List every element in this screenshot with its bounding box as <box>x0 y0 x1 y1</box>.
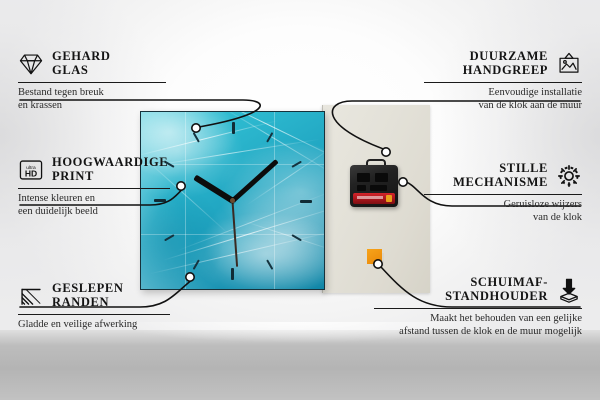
feature-desc-line-2: en krassen <box>18 100 166 113</box>
clock-tick-12 <box>232 122 234 201</box>
feature-geslepen-randen: GESLEPEN RANDEN Gladde en veilige afwerk… <box>18 282 170 332</box>
feature-desc-line-1: Eenvoudige installatie <box>424 87 582 100</box>
feature-hoogwaardige-print: ultra HD HOOGWAARDIGE PRINT Intense kleu… <box>18 156 170 218</box>
gear-icon <box>556 163 582 189</box>
feature-duurzame-handgreep: DUURZAME HANDGREEP Eenvoudige installati… <box>424 50 582 112</box>
feature-desc-line-1: Intense kleuren en <box>18 193 170 206</box>
feature-divider <box>424 194 582 195</box>
feature-title: GEHARD GLAS <box>52 50 110 77</box>
product-photo <box>140 103 432 293</box>
movement-slot-2 <box>375 173 388 182</box>
battery-label-stripe <box>357 196 383 199</box>
feature-desc-line-2: een duidelijk beeld <box>18 206 170 219</box>
feature-title: HOOGWAARDIGE PRINT <box>52 156 168 183</box>
feature-stille-mechanisme: STILLE MECHANISME Geruisloze wijzers van… <box>424 162 582 224</box>
movement-slot-1 <box>357 173 370 182</box>
feature-desc-line-2: van de klok <box>424 212 582 225</box>
ultra-hd-icon-text-bottom: HD <box>25 168 37 178</box>
movement-slot-4 <box>370 185 387 191</box>
feature-gehard-glas: GEHARD GLAS Bestand tegen breuk en krass… <box>18 50 166 112</box>
feature-divider <box>18 314 170 315</box>
beveled-edges-icon <box>18 283 44 309</box>
feature-header: DUURZAME HANDGREEP <box>424 50 582 77</box>
down-arrow-pad-icon <box>556 277 582 303</box>
quartz-movement <box>350 165 398 207</box>
feature-divider <box>424 82 582 83</box>
infographic-stage: GEHARD GLAS Bestand tegen breuk en krass… <box>0 0 600 400</box>
feature-desc-line-2: afstand tussen de klok en de muur mogeli… <box>374 326 582 339</box>
feature-header: STILLE MECHANISME <box>424 162 582 189</box>
feature-desc-line-2: van de klok aan de muur <box>424 100 582 113</box>
feature-desc-line-1: Geruisloze wijzers <box>424 199 582 212</box>
foam-spacer-pad <box>367 249 382 264</box>
feature-desc-line-1: Bestand tegen breuk <box>18 87 166 100</box>
battery-positive-terminal <box>386 195 392 202</box>
movement-battery <box>353 193 395 204</box>
picture-frame-icon <box>556 51 582 77</box>
feature-title: GESLEPEN RANDEN <box>52 282 124 309</box>
clock-tick-3 <box>233 200 312 202</box>
diamond-icon <box>18 51 44 77</box>
feature-desc-line-1: Maakt het behouden van een gelijke <box>374 313 582 326</box>
ultra-hd-icon: ultra HD <box>18 157 44 183</box>
feature-header: ultra HD HOOGWAARDIGE PRINT <box>18 156 170 183</box>
feature-divider <box>18 82 166 83</box>
feature-title: SCHUIMAF- STANDHOUDER <box>445 276 548 303</box>
movement-slot-3 <box>357 185 366 191</box>
feature-divider <box>374 308 582 309</box>
clock-center-hub <box>230 198 235 203</box>
feature-desc-line-1: Gladde en veilige afwerking <box>18 319 170 332</box>
feature-header: SCHUIMAF- STANDHOUDER <box>374 276 582 303</box>
feature-header: GESLEPEN RANDEN <box>18 282 170 309</box>
feature-header: GEHARD GLAS <box>18 50 166 77</box>
feature-schuimafstandhouder: SCHUIMAF- STANDHOUDER Maakt het behouden… <box>374 276 582 338</box>
feature-title: DUURZAME HANDGREEP <box>463 50 548 77</box>
feature-divider <box>18 188 170 189</box>
feature-title: STILLE MECHANISME <box>453 162 548 189</box>
